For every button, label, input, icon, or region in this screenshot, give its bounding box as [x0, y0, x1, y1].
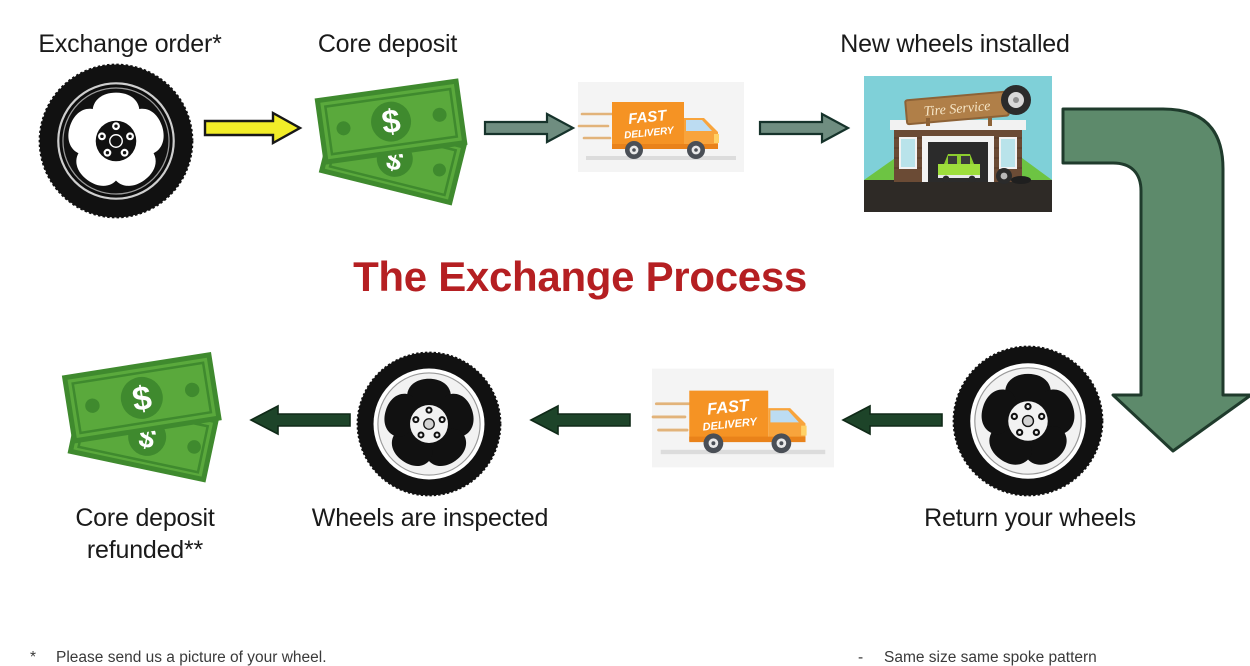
silver-alloy-wheel-return-icon — [952, 345, 1104, 497]
slate-arrow-svg-2 — [758, 110, 850, 146]
delivery-truck-return-icon: FAST DELIVERY — [652, 368, 834, 468]
label-new-wheels-installed: New wheels installed — [805, 28, 1105, 60]
arrow-deposit-to-shipping — [483, 110, 575, 146]
tire-service-shop-icon: Tire Service — [864, 76, 1052, 212]
footnote-right-mark-1: - — [858, 645, 884, 666]
footnote-left-mark-1: * — [30, 645, 56, 666]
money-bills-refund-svg: $ $ — [58, 343, 238, 489]
footnote-right-row-1: -Same size same spoke pattern — [858, 645, 1250, 666]
dark-green-arrow-svg-2 — [528, 403, 632, 437]
arrow-return-to-shipping — [840, 403, 944, 437]
delivery-truck-svg-bottom: FAST DELIVERY — [652, 368, 834, 468]
arrow-inspection-to-refund — [248, 403, 352, 437]
arrow-shipping-to-install — [758, 110, 850, 146]
silver-alloy-wheel-inspected-icon — [356, 351, 502, 497]
dark-green-arrow-svg-3 — [840, 403, 944, 437]
footnotes-left: *Please send us a picture of your wheel.… — [30, 592, 510, 666]
delivery-truck-icon: FAST DELIVERY — [578, 82, 744, 172]
arrow-shipping-to-inspection — [528, 403, 632, 437]
footnote-left-text-1: Please send us a picture of your wheel. — [56, 649, 327, 666]
label-return-your-wheels: Return your wheels — [890, 502, 1170, 534]
exchange-process-diagram: Exchange order* Core deposit New wheels … — [0, 0, 1250, 666]
arrow-order-to-deposit — [203, 110, 303, 146]
money-bills-icon: $ $ — [310, 68, 482, 208]
yellow-arrow-svg — [203, 110, 303, 146]
dark-green-arrow-svg-1 — [248, 403, 352, 437]
label-core-deposit-refunded: Core deposit refunded** — [30, 502, 260, 566]
footnote-right-text-1: Same size same spoke pattern — [884, 649, 1097, 666]
delivery-truck-svg-top: FAST DELIVERY — [578, 82, 744, 172]
money-bills-svg: $ $ — [310, 68, 482, 208]
silver-wheel-svg-2 — [952, 345, 1104, 497]
label-core-deposit: Core deposit — [280, 28, 495, 60]
footnotes-right: -Same size same spoke pattern -No chrome… — [858, 592, 1250, 666]
label-exchange-order: Exchange order* — [10, 28, 250, 60]
black-alloy-wheel-icon — [38, 63, 194, 219]
silver-wheel-svg-1 — [356, 351, 502, 497]
tire-shop-svg: Tire Service — [864, 76, 1052, 212]
black-wheel-svg — [38, 63, 194, 219]
slate-arrow-svg-1 — [483, 110, 575, 146]
label-wheels-inspected: Wheels are inspected — [298, 502, 562, 534]
money-bills-refund-icon: $ $ — [58, 343, 238, 489]
page-title: The Exchange Process — [0, 253, 1160, 301]
footnote-left-row-1: *Please send us a picture of your wheel. — [30, 645, 510, 666]
